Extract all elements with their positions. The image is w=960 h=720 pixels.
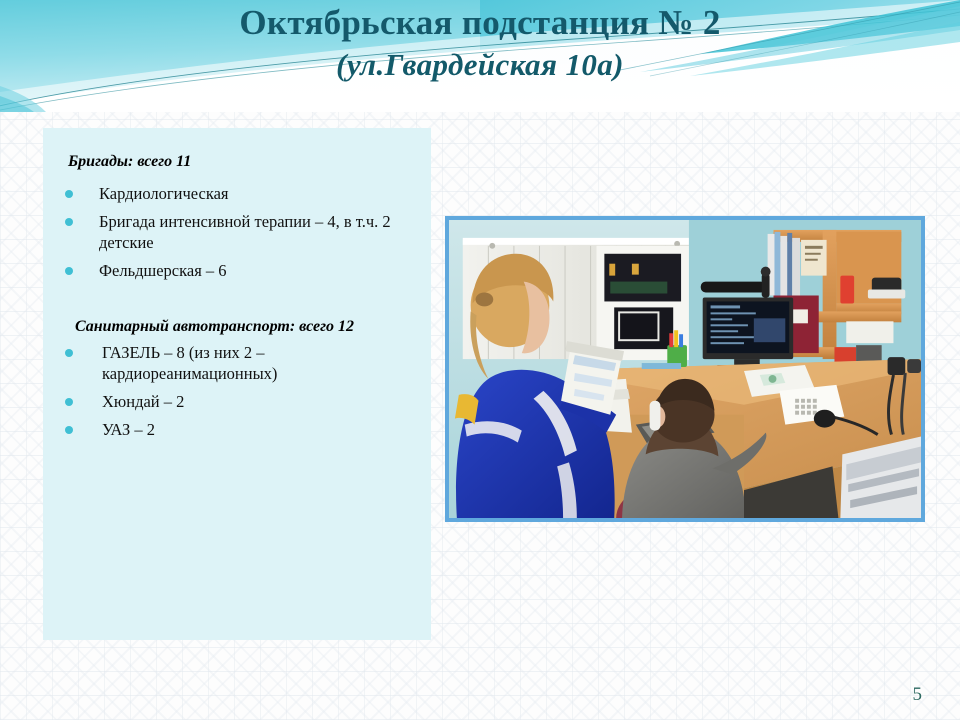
bullet-dot-icon — [65, 398, 73, 406]
list-item-label: ГАЗЕЛЬ – 8 (из них 2 – кардиореанимацион… — [102, 343, 277, 383]
header-banner: Октябрьская подстанция № 2 (ул.Гвардейск… — [0, 0, 960, 112]
page-title: Октябрьская подстанция № 2 — [0, 2, 960, 44]
section-heading-brigades: Бригады: всего 11 — [68, 152, 191, 172]
list-item-label: УАЗ – 2 — [102, 420, 155, 439]
content-panel: Бригады: всего 11 Кардиологическая Брига… — [43, 128, 431, 640]
list-item: Фельдшерская – 6 — [57, 260, 413, 281]
dispatch-office-photo — [445, 216, 925, 522]
list-item: УАЗ – 2 — [57, 419, 413, 440]
page-subtitle: (ул.Гвардейская 10а) — [0, 45, 960, 85]
section-heading-transport: Санитарный автотранспорт: всего 12 — [75, 317, 354, 337]
list-item-label: Бригада интенсивной терапии – 4, в т.ч. … — [99, 212, 391, 252]
bullet-dot-icon — [65, 426, 73, 434]
bullet-dot-icon — [65, 190, 73, 198]
list-item: Бригада интенсивной терапии – 4, в т.ч. … — [57, 211, 413, 253]
title-block: Октябрьская подстанция № 2 (ул.Гвардейск… — [0, 2, 960, 85]
list-item-label: Хюндай – 2 — [102, 392, 184, 411]
bullet-dot-icon — [65, 218, 73, 226]
bullet-dot-icon — [65, 267, 73, 275]
brigades-list: Кардиологическая Бригада интенсивной тер… — [57, 183, 413, 288]
list-item: Кардиологическая — [57, 183, 413, 204]
photo-content — [449, 220, 921, 518]
slide-canvas: Октябрьская подстанция № 2 (ул.Гвардейск… — [0, 0, 960, 720]
list-item-label: Фельдшерская – 6 — [99, 261, 227, 280]
list-item: Хюндай – 2 — [57, 391, 413, 412]
page-number: 5 — [913, 684, 923, 706]
list-item-label: Кардиологическая — [99, 184, 229, 203]
bullet-dot-icon — [65, 349, 73, 357]
transport-list: ГАЗЕЛЬ – 8 (из них 2 – кардиореанимацион… — [57, 342, 413, 447]
list-item: ГАЗЕЛЬ – 8 (из них 2 – кардиореанимацион… — [57, 342, 413, 384]
